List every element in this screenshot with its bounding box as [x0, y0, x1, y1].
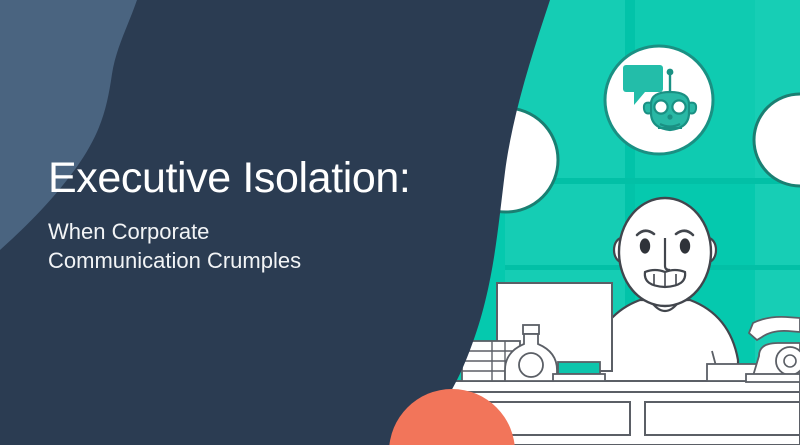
page-subtitle: When Corporate Communication Crumples: [48, 217, 468, 275]
title-block: Executive Isolation: When Corporate Comm…: [48, 155, 468, 276]
page-title: Executive Isolation:: [48, 155, 468, 201]
page-subtitle-line2: Communication Crumples: [48, 246, 468, 275]
executive-isolation-banner: Executive Isolation: When Corporate Comm…: [0, 0, 800, 445]
page-subtitle-line1: When Corporate: [48, 217, 468, 246]
